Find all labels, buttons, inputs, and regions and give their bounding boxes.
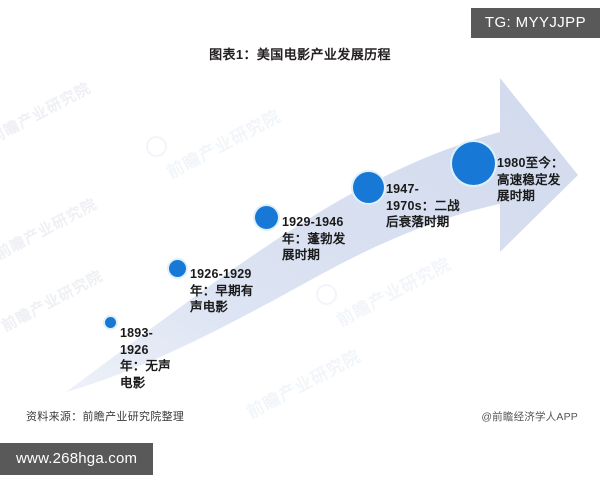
milestone-label-line: 后衰落时期 [386, 214, 492, 231]
milestone-label-line: 电影 [120, 375, 190, 392]
milestone-marker-dot[interactable] [452, 142, 495, 185]
milestone-label-line: 年：无声 [120, 358, 190, 375]
milestone-label-line: 声电影 [190, 299, 286, 316]
milestone-label-line: 年：早期有 [190, 283, 286, 300]
milestone-marker-dot[interactable] [255, 206, 278, 229]
milestone-label-line: 展时期 [497, 188, 597, 205]
milestone-label: 1893- 1926 年：无声 电影 [120, 325, 190, 391]
milestone-label-line: 1929-1946 [282, 214, 380, 231]
milestone-label-line: 1970s：二战 [386, 198, 492, 215]
milestone-label-line: 1980至今： [497, 155, 597, 172]
milestone-marker-dot[interactable] [353, 172, 384, 203]
milestone-label-line: 高速稳定发 [497, 172, 597, 189]
milestone-label: 1947- 1970s：二战 后衰落时期 [386, 181, 492, 231]
milestone-label-line: 年：蓬勃发 [282, 231, 380, 248]
milestone-label: 1980至今： 高速稳定发 展时期 [497, 155, 597, 205]
telegram-watermark-badge: TG: MYYJJPP [471, 8, 600, 38]
milestone-marker-dot[interactable] [169, 260, 186, 277]
app-credit: @前瞻经济学人APP [481, 409, 578, 424]
milestone-label-line: 1926 [120, 342, 190, 359]
chart-canvas: 前瞻产业研究院 前瞻产业研究院 前瞻产业研究院 前瞻产业研究院 前瞻产业研究院 … [0, 0, 600, 480]
milestone-label: 1926-1929 年：早期有 声电影 [190, 266, 286, 316]
milestone-marker-dot[interactable] [105, 317, 116, 328]
milestone-label-line: 1926-1929 [190, 266, 286, 283]
milestone-label-line: 展时期 [282, 247, 380, 264]
site-url-badge: www.268hga.com [0, 443, 153, 475]
source-note: 资料来源：前瞻产业研究院整理 [26, 408, 184, 424]
milestone-label-line: 1893- [120, 325, 190, 342]
milestone-label: 1929-1946 年：蓬勃发 展时期 [282, 214, 380, 264]
